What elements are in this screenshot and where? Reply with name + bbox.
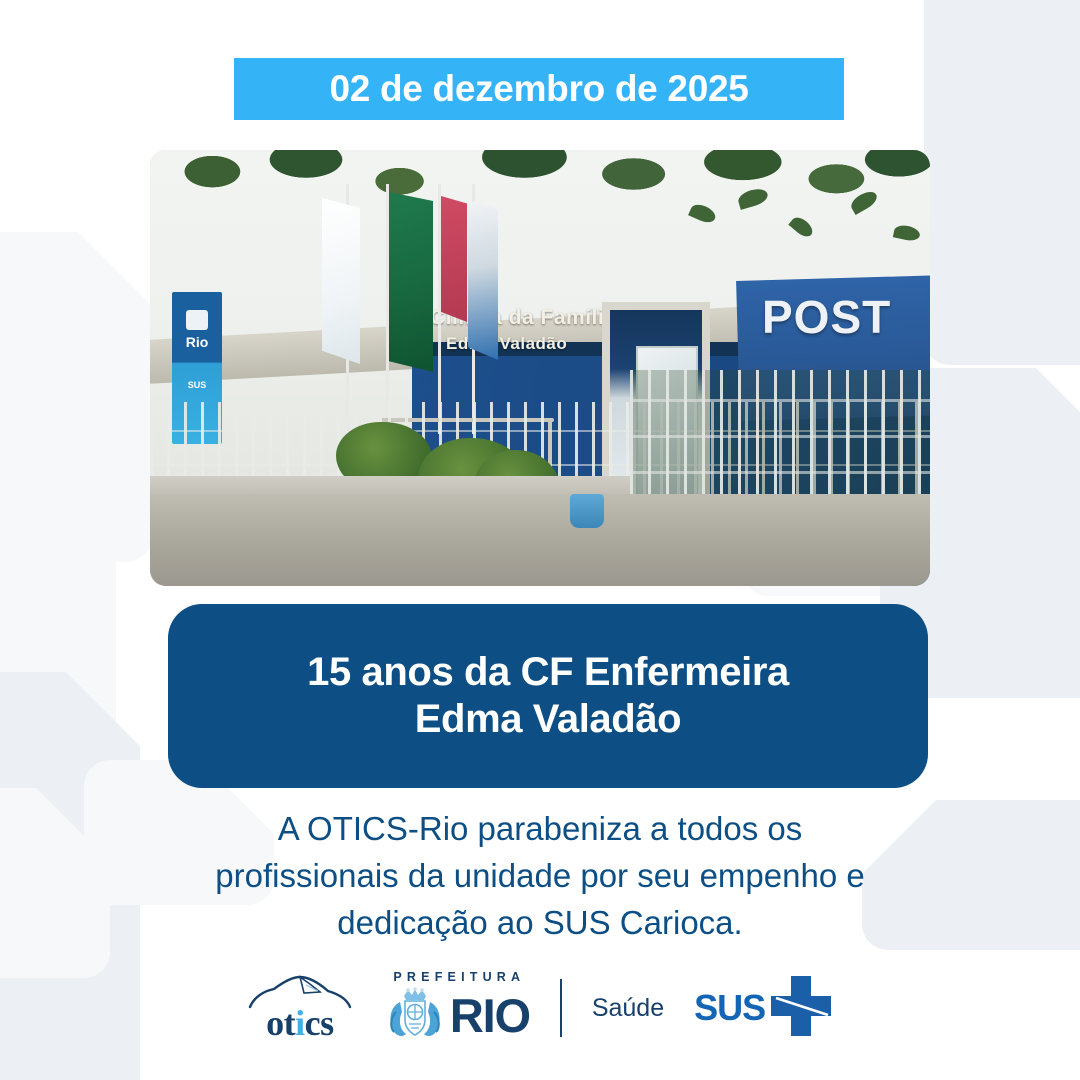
photo-flagpole — [386, 184, 389, 434]
photo-flag-blue — [468, 200, 498, 360]
sus-cross-icon — [768, 973, 834, 1044]
date-banner: 02 de dezembro de 2025 — [234, 58, 844, 120]
otics-word-part2: cs — [305, 1003, 334, 1043]
clinic-facade-photo: Clínica da Família Edma Valadão POST Rio… — [150, 150, 930, 586]
otics-logo: otics — [246, 975, 354, 1041]
sus-wordmark: SUS — [694, 990, 765, 1026]
date-text: 02 de dezembro de 2025 — [329, 68, 748, 110]
photo-bucket — [570, 494, 604, 528]
photo-posto-banner-text: POST — [762, 290, 891, 344]
photo-totem-crest — [186, 310, 208, 330]
rio-wordmark: RIO — [450, 995, 530, 1036]
otics-wordmark: otics — [266, 1005, 334, 1041]
bg-shape-left-bottom — [0, 788, 110, 978]
prefeitura-kicker: PREFEITURA — [393, 970, 525, 984]
logo-divider — [560, 979, 562, 1037]
footer-logo-row: otics PREFEITURA — [0, 966, 1080, 1050]
saude-label: Saúde — [592, 996, 664, 1021]
photo-totem-brand: Rio — [176, 334, 218, 350]
photo-flag-sus — [322, 198, 360, 364]
photo-flag-red — [441, 196, 467, 322]
photo-card: Clínica da Família Edma Valadão POST Rio… — [150, 150, 930, 586]
bg-shape-left-low-a — [0, 672, 140, 972]
bg-shape-top-left — [0, 232, 152, 562]
photo-flagpole — [438, 184, 441, 434]
otics-word-part1: ot — [266, 1003, 295, 1043]
rio-coat-of-arms-icon — [384, 986, 446, 1047]
bg-shape-left-mid-b — [0, 470, 116, 870]
photo-flag-brasil — [389, 192, 433, 372]
title-text: 15 anos da CF Enfermeira Edma Valadão — [281, 649, 815, 743]
photo-totem-sus: SUS — [176, 380, 218, 390]
social-post-canvas: 02 de dezembro de 2025 Clínica da Famíli… — [0, 0, 1080, 1080]
bg-shape-top-right-a — [924, 0, 1080, 365]
sus-logo: SUS — [694, 973, 834, 1044]
prefeitura-rio-logo: PREFEITURA — [384, 970, 530, 1047]
photo-clinic-sign-line2: Edma Valadão — [446, 334, 567, 354]
otics-word-i: i — [295, 1003, 305, 1043]
body-paragraph: A OTICS-Rio parabeniza a todos os profis… — [120, 806, 960, 947]
photo-sidewalk — [150, 494, 930, 586]
photo-tree-canopy — [150, 150, 930, 270]
bg-shape-left-mid-a — [0, 418, 116, 658]
title-card: 15 anos da CF Enfermeira Edma Valadão — [168, 604, 928, 788]
